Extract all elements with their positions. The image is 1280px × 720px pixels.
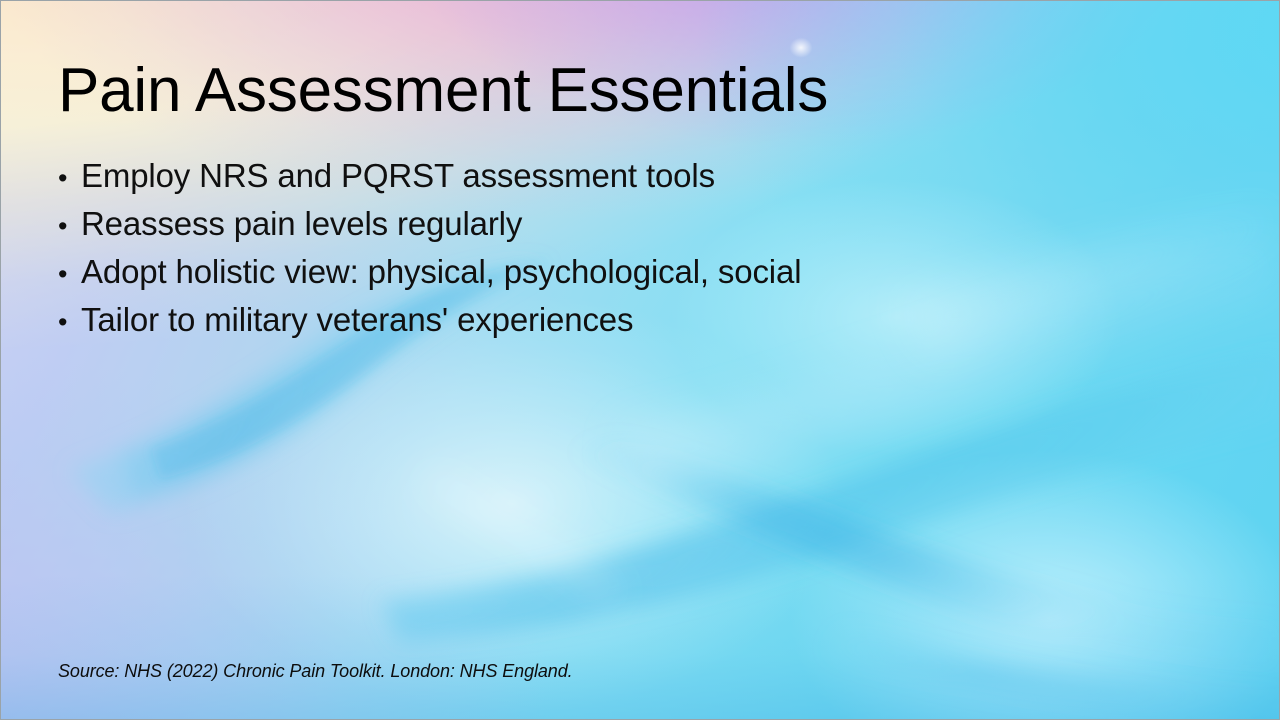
presentation-slide: Pain Assessment Essentials • Employ NRS … [0,0,1280,720]
list-item: • Reassess pain levels regularly [58,204,801,252]
bullet-point-icon: • [58,302,81,342]
list-item-label: Employ NRS and PQRST assessment tools [81,156,715,196]
bullet-list: • Employ NRS and PQRST assessment tools … [58,156,801,348]
list-item: • Employ NRS and PQRST assessment tools [58,156,801,204]
list-item: • Adopt holistic view: physical, psychol… [58,252,801,300]
list-item-label: Reassess pain levels regularly [81,204,522,244]
page-title: Pain Assessment Essentials [58,56,828,126]
bullet-point-icon: • [58,254,81,294]
bullet-point-icon: • [58,206,81,246]
source-citation: Source: NHS (2022) Chronic Pain Toolkit.… [58,659,573,683]
slide-content: Pain Assessment Essentials • Employ NRS … [1,1,1279,719]
list-item-label: Tailor to military veterans' experiences [81,300,633,340]
list-item-label: Adopt holistic view: physical, psycholog… [81,252,801,292]
list-item: • Tailor to military veterans' experienc… [58,300,801,348]
bullet-point-icon: • [58,158,81,198]
